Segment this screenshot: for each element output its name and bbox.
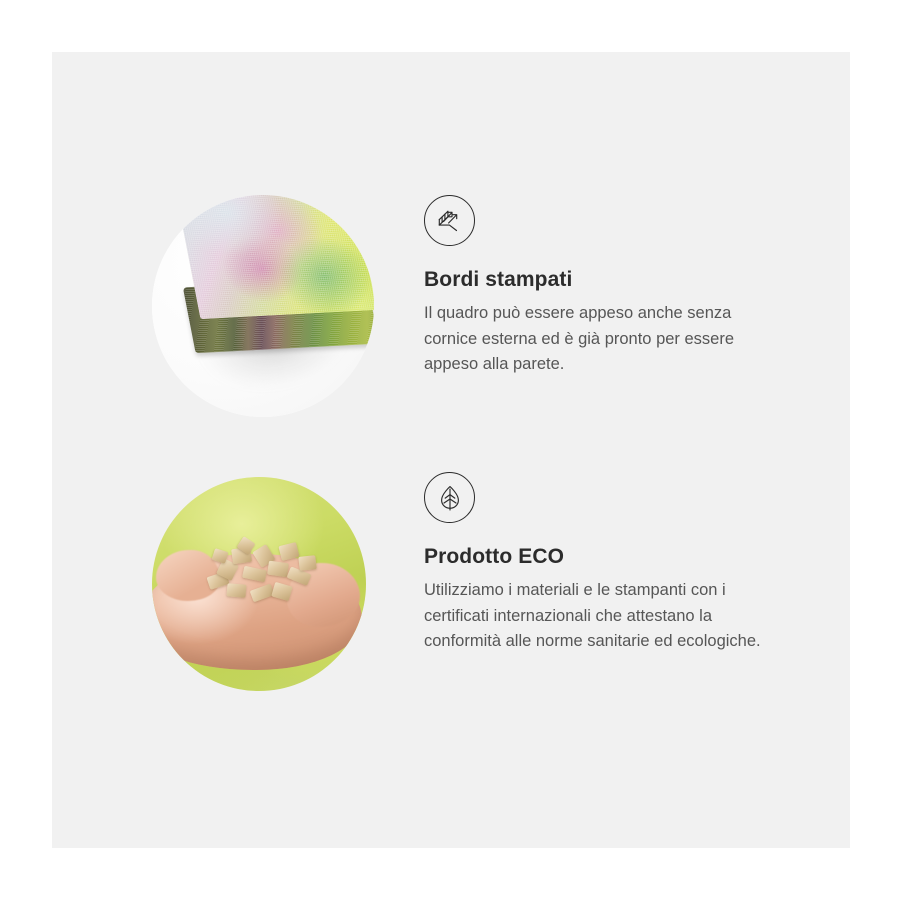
canvas-wrapped-edge-glyph — [435, 206, 465, 236]
canvas-printed-face — [173, 195, 374, 319]
feature-title: Prodotto ECO — [424, 545, 806, 569]
feature-title: Bordi stampati — [424, 268, 806, 292]
canvas-photo-backdrop — [152, 195, 374, 417]
feature-text-prodotto-eco: Prodotto ECO Utilizziamo i materiali e l… — [424, 472, 806, 655]
eco-photo-backdrop — [152, 477, 366, 691]
hands-with-wood-chips-photo — [152, 477, 366, 691]
feature-description: Il quadro può essere appeso anche senza … — [424, 301, 784, 378]
wood-chips-pile — [203, 539, 323, 616]
canvas-corner-photo — [152, 195, 374, 417]
feature-description: Utilizziamo i materiali e le stampanti c… — [424, 578, 784, 655]
content-panel: Bordi stampati Il quadro può essere appe… — [52, 52, 850, 848]
page-root: Bordi stampati Il quadro può essere appe… — [0, 0, 900, 900]
leaf-glyph — [435, 483, 465, 513]
leaf-icon — [424, 472, 475, 523]
feature-text-bordi-stampati: Bordi stampati Il quadro può essere appe… — [424, 195, 806, 378]
canvas-wrapped-edge-icon — [424, 195, 475, 246]
